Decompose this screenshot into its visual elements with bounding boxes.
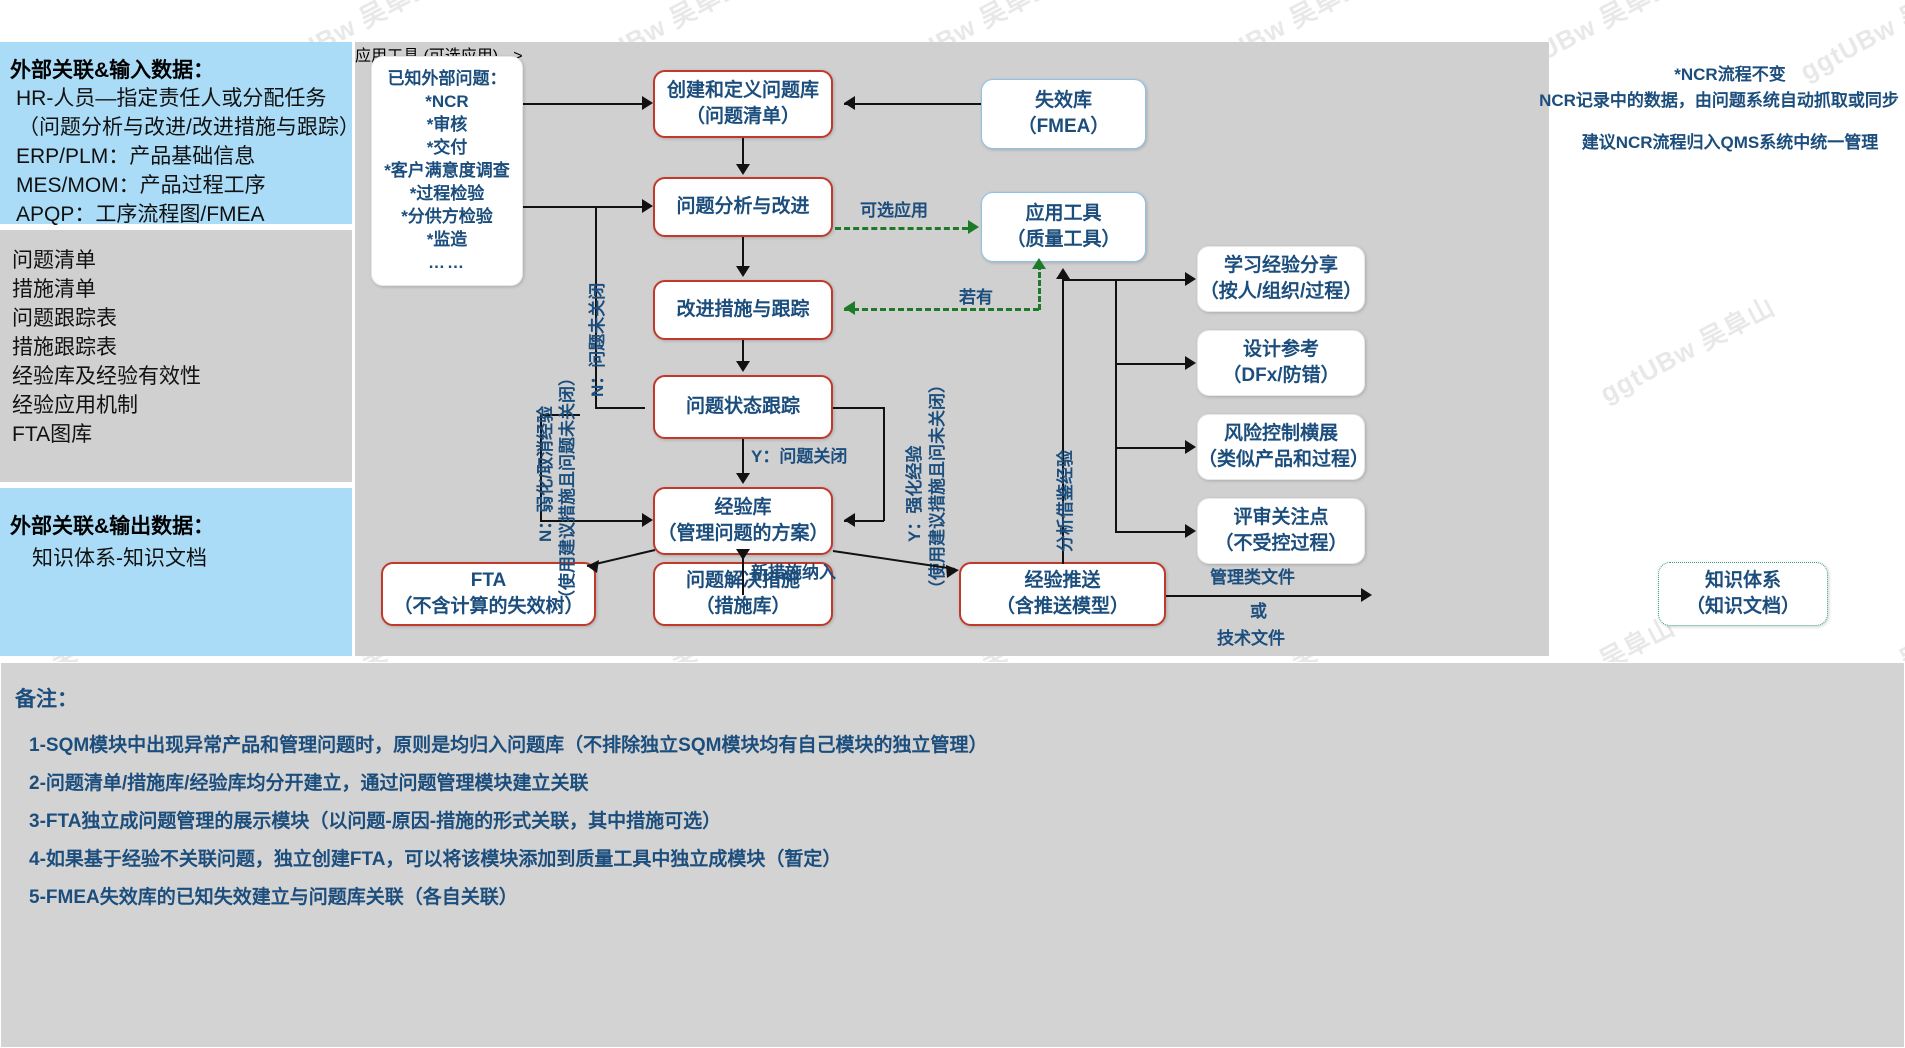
arrow-head [844, 513, 855, 527]
edge-label-if-any: 若有 [959, 287, 993, 309]
artifact-item: FTA图库 [12, 420, 352, 449]
connector-line [742, 237, 744, 267]
top-right-note: *NCR流程不变 NCR记录中的数据，由问题系统自动抓取或同步 建议NCR流程归… [1560, 62, 1900, 156]
node-line-1: 应用工具 [1025, 201, 1101, 227]
top-note-line-1: *NCR流程不变 [1560, 62, 1900, 88]
connector-line-exp-to-fta [587, 550, 655, 566]
node-line-1: FTA [471, 568, 507, 594]
flow-canvas: 已知外部问题： *NCR *审核 *交付 *客户满意度调查 *过程检验 *分供方… [355, 42, 1549, 656]
artifact-item: 措施跟踪表 [12, 333, 352, 362]
connector-line [595, 206, 645, 208]
arrow-head-green [968, 220, 979, 234]
artifact-item: 经验库及经验有效性 [12, 362, 352, 391]
artifact-item: 措施清单 [12, 275, 352, 304]
panel-input-data: 外部关联&输入数据： HR-人员—指定责任人或分配任务 （问题分析与改进/改进措… [0, 42, 352, 224]
edge-label-new-action: 新措施纳入 [751, 562, 836, 584]
connector-line [595, 407, 645, 409]
node-line-1: 经验库 [714, 495, 771, 521]
edge-label-issue-not-closed: N：问题未关闭 [583, 283, 608, 397]
arrow-head [736, 266, 750, 277]
arrow-head [736, 361, 750, 372]
watermark: ggtUBw 吴阜山 [1593, 287, 1781, 410]
node-line-1: 评审关注点 [1233, 505, 1328, 531]
node-line-1: 经验推送 [1024, 568, 1100, 594]
node-line-2: （问题清单） [686, 104, 800, 130]
artifact-item: 问题清单 [12, 246, 352, 275]
edge-label-technical-doc: 技术文件 [1217, 628, 1285, 650]
node-line-1: 问题状态跟踪 [686, 394, 800, 420]
panel-artifacts: 问题清单 措施清单 问题跟踪表 措施跟踪表 经验库及经验有效性 经验应用机制 F… [0, 230, 352, 482]
arrow-head [736, 549, 750, 560]
arrow-head-green [1032, 258, 1046, 269]
remark-item: 1-SQM模块中出现异常产品和管理问题时，原则是均归入问题库（不排除独立SQM模… [15, 727, 1904, 765]
node-line-2: （含推送模型） [996, 594, 1129, 620]
connector-line [742, 439, 744, 474]
node-line-2: （质量工具） [1006, 227, 1120, 253]
connector-line [742, 555, 744, 595]
green-connector-line [835, 227, 968, 230]
arrow-head [642, 96, 653, 110]
node-line-2: （按人/组织/过程） [1200, 279, 1363, 305]
connector-line [742, 340, 744, 362]
connector-line [742, 138, 744, 165]
node-line-2: （不受控过程） [1214, 531, 1347, 557]
arrow-head [736, 473, 750, 484]
arrow-head [1185, 272, 1196, 286]
node-line-2: （类似产品和过程） [1198, 447, 1364, 473]
node-line-2: （措施库） [695, 594, 790, 620]
connector-line [1115, 279, 1185, 281]
external-issues-title: 已知外部问题： [388, 67, 507, 90]
top-note-line-3: 建议NCR流程归入QMS系统中统一管理 [1560, 130, 1900, 156]
panel-output-data: 外部关联&输出数据： 知识体系-知识文档 [0, 488, 352, 656]
connector-line [1115, 363, 1185, 365]
external-issue-item: *监造 [427, 228, 468, 251]
node-learning-experience-sharing[interactable]: 学习经验分享 （按人/组织/过程） [1197, 246, 1365, 312]
artifact-item: 问题跟踪表 [12, 304, 352, 333]
node-application-tools[interactable]: 应用工具 （质量工具） [981, 192, 1146, 262]
edge-label-weaken-experience-sub: （使用建议措施且问题未关闭） [553, 369, 578, 607]
node-issue-status-tracking[interactable]: 问题状态跟踪 [653, 375, 833, 439]
external-issue-item: *客户满意度调查 [384, 159, 510, 182]
connector-line [1115, 279, 1117, 531]
node-issue-analysis-improvement[interactable]: 问题分析与改进 [653, 177, 833, 237]
arrow-head [1185, 440, 1196, 454]
arrow-head [642, 513, 653, 527]
green-connector-line [1038, 264, 1041, 310]
remark-item: 3-FTA独立成问题管理的展示模块（以问题-原因-措施的形式关联，其中措施可选） [15, 803, 1904, 841]
connector-line [1166, 595, 1362, 597]
node-line-1: 失效库 [1035, 88, 1092, 114]
node-review-focus-points[interactable]: 评审关注点 （不受控过程） [1197, 498, 1365, 564]
node-line-2: （管理问题的方案） [657, 521, 828, 547]
node-known-external-issues[interactable]: 已知外部问题： *NCR *审核 *交付 *客户满意度调查 *过程检验 *分供方… [371, 56, 523, 286]
node-experience-push[interactable]: 经验推送 （含推送模型） [959, 562, 1166, 626]
external-issue-item: *分供方检验 [401, 205, 493, 228]
connector-line [844, 103, 981, 105]
node-line-2: （FMEA） [1018, 114, 1110, 140]
external-issue-item: …… [428, 251, 466, 274]
node-line-1: 知识体系 [1705, 568, 1781, 594]
node-line-1: 创建和定义问题库 [667, 78, 819, 104]
node-line-1: 改进措施与跟踪 [676, 297, 809, 323]
external-issue-item: *过程检验 [410, 182, 485, 205]
connector-line [833, 407, 885, 409]
node-improvement-actions-tracking[interactable]: 改进措施与跟踪 [653, 280, 833, 340]
node-line-2: （知识文档） [1686, 594, 1800, 620]
arrow-head [1361, 588, 1372, 602]
node-failure-library-fmea[interactable]: 失效库 （FMEA） [981, 79, 1146, 149]
edge-label-issue-closed: Y：问题关闭 [751, 446, 847, 468]
edge-label-analyze-reference-experience: 分析借鉴经验 [1051, 450, 1076, 552]
node-line-1: 学习经验分享 [1224, 253, 1338, 279]
panel-input-line: HR-人员—指定责任人或分配任务 [10, 84, 352, 113]
arrow-head-green [844, 301, 855, 315]
arrow-head [844, 96, 855, 110]
connector-line [1115, 531, 1185, 533]
edge-label-management-doc: 管理类文件 [1210, 567, 1295, 589]
green-connector-line [844, 308, 1039, 311]
panel-input-line: MES/MOM：产品过程工序 [10, 171, 352, 200]
panel-input-title: 外部关联&输入数据： [10, 54, 352, 84]
connector-line [1062, 279, 1117, 281]
node-line-2: （DFx/防错） [1222, 363, 1339, 389]
external-issue-item: *交付 [427, 136, 468, 159]
artifact-item: 经验应用机制 [12, 391, 352, 420]
panel-input-line: APQP：工序流程图/FMEA [10, 200, 352, 229]
panel-input-line: ERP/PLM：产品基础信息 [10, 142, 352, 171]
node-create-define-issue-library[interactable]: 创建和定义问题库 （问题清单） [653, 70, 833, 138]
node-risk-control-expansion[interactable]: 风险控制横展 （类似产品和过程） [1197, 414, 1365, 480]
remarks-panel: 备注： 1-SQM模块中出现异常产品和管理问题时，原则是均归入问题库（不排除独立… [0, 662, 1905, 1048]
remark-item: 2-问题清单/措施库/经验库均分开建立，通过问题管理模块建立关联 [15, 765, 1904, 803]
external-issue-item: *NCR [425, 90, 468, 113]
remark-item: 4-如果基于经验不关联问题，独立创建FTA，可以将该模块添加到质量工具中独立成模… [15, 841, 1904, 879]
panel-output-line: 知识体系-知识文档 [10, 540, 352, 573]
arrow-head [736, 164, 750, 175]
edge-label-strengthen-experience: Y：强化经验 [900, 446, 925, 542]
top-note-line-2: NCR记录中的数据，由问题系统自动抓取或同步 [1538, 88, 1900, 114]
external-issue-item: *审核 [427, 113, 468, 136]
remark-item: 5-FMEA失效库的已知失效建立与问题库关联（各自关联） [15, 879, 1904, 917]
connector-line [1115, 447, 1185, 449]
connector-line [523, 103, 643, 105]
edge-label-or: 或 [1250, 601, 1267, 623]
arrow-head [1185, 356, 1196, 370]
node-line-1: 风险控制横展 [1224, 421, 1338, 447]
remarks-title: 备注： [15, 683, 1904, 713]
panel-input-line: （问题分析与改进/改进措施与跟踪） [10, 113, 352, 142]
arrow-head [1185, 524, 1196, 538]
connector-line [883, 407, 885, 521]
node-experience-library[interactable]: 经验库 （管理问题的方案） [653, 487, 833, 555]
edge-label-optional-apply: 可选应用 [860, 200, 928, 222]
node-line-1: 设计参考 [1243, 337, 1319, 363]
node-knowledge-system[interactable]: 知识体系 （知识文档） [1658, 562, 1828, 626]
edge-label-strengthen-experience-sub: （使用建议措施且问未关闭） [923, 376, 948, 597]
node-design-reference[interactable]: 设计参考 （DFx/防错） [1197, 330, 1365, 396]
node-line-1: 问题分析与改进 [676, 194, 809, 220]
diagram-root: ggtUBw 吴阜山 ggtUBw 吴阜山 ggtUBw 吴阜山 ggtUBw … [0, 0, 1905, 1048]
arrow-head [1056, 268, 1070, 279]
panel-output-title: 外部关联&输出数据： [10, 510, 352, 540]
